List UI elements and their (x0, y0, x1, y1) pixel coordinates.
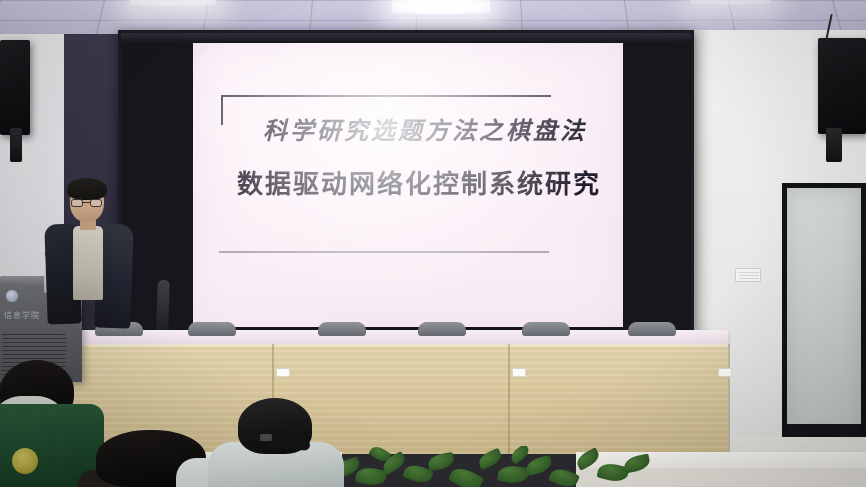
planter-foliage (330, 446, 660, 487)
slide-surface: 科学研究选题方法之棋盘法 数据驱动网络化控制系统研究 (193, 43, 623, 327)
screen-top-bar (121, 33, 691, 43)
plant-leaf (574, 447, 602, 471)
ceiling-light-panel-right (690, 0, 770, 4)
presenter-glasses-icon (71, 199, 103, 207)
desk-seat-label (512, 368, 526, 377)
chair-back (318, 322, 366, 336)
wall-outlet (735, 268, 761, 282)
speaker-bracket-left (10, 128, 22, 162)
desk-seat-label (718, 368, 732, 377)
lectern-institution-text: 信息学院 (4, 310, 40, 321)
plant-leaf (524, 455, 553, 477)
speaker-bracket-right (826, 128, 842, 162)
slide-underline (219, 251, 549, 253)
plant-leaf (427, 452, 455, 471)
presenter-jacket-sheen (156, 280, 170, 344)
chair-back (418, 322, 466, 336)
ceiling-speaker-right (818, 38, 866, 134)
chair-back (188, 322, 236, 336)
plant-leaf (476, 448, 504, 471)
ceiling-speaker-left (0, 40, 30, 135)
jacket-emblem-icon (12, 448, 38, 474)
wall-outlet-vents (739, 272, 759, 280)
desk-seam (728, 344, 730, 454)
ceiling-light-panel-center (392, 0, 490, 14)
projection-screen[interactable]: 科学研究选题方法之棋盘法 数据驱动网络化控制系统研究 (118, 30, 694, 336)
chair-back (628, 322, 676, 336)
plant-leaf (497, 464, 529, 485)
presenter-shirt (73, 226, 103, 300)
glasses-lens-left (71, 199, 83, 207)
desk-edge-highlight (28, 344, 728, 347)
plant-leaf (508, 446, 531, 465)
slide-content: 科学研究选题方法之棋盘法 数据驱动网络化控制系统研究 (193, 43, 623, 327)
chair-back (522, 322, 570, 336)
ceiling-light-panel-left (130, 0, 216, 6)
slide-title-line-2: 数据驱动网络化控制系统研究 (237, 164, 605, 201)
plant-leaf (548, 465, 580, 487)
plant-leaf (623, 453, 652, 473)
glass-door-panel[interactable] (782, 183, 866, 443)
glass-panel-base (787, 424, 861, 438)
slide-title-line-1: 科学研究选题方法之棋盘法 (263, 111, 605, 146)
plant-leaf (448, 464, 485, 487)
glasses-lens-right (90, 199, 102, 207)
desk-seat-label (276, 368, 290, 377)
presenter (40, 180, 136, 340)
presenter-hair (67, 178, 107, 200)
glasses-bridge (83, 202, 90, 203)
lecture-hall-scene: 科学研究选题方法之棋盘法 数据驱动网络化控制系统研究 信息学院 (0, 0, 866, 487)
institution-logo-icon (6, 290, 18, 302)
desk-seam (508, 344, 510, 454)
audience-person-c-cap-clip (260, 434, 272, 441)
